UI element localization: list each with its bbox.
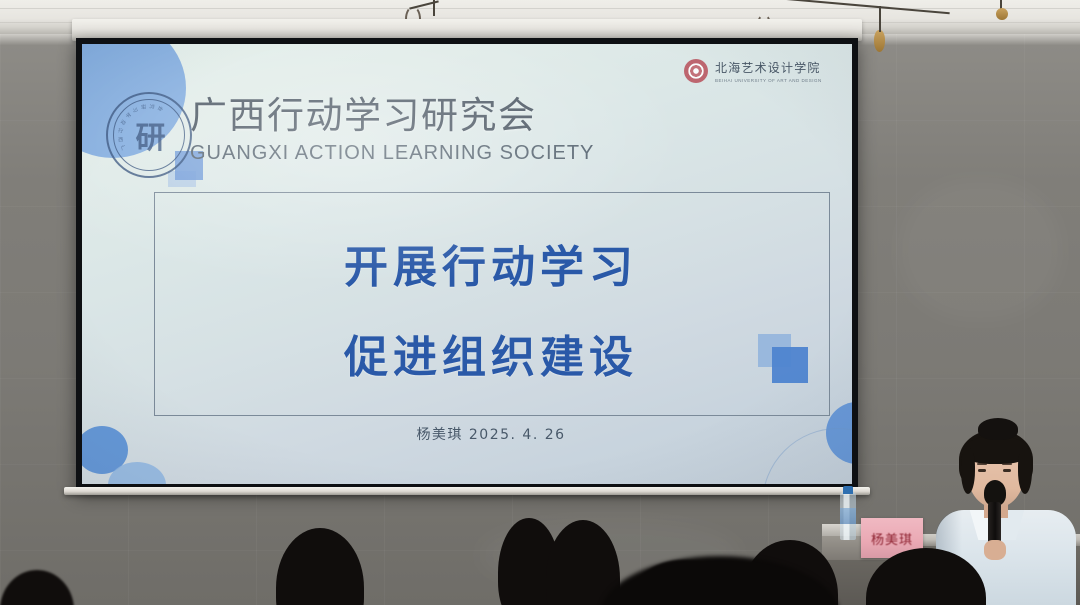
presenter-hair-side-right	[1018, 448, 1032, 494]
slide-title-line-2: 促进组织建设	[154, 321, 828, 385]
screenshot-root: 研 广西行动学习研究会 广西行动学习研究会 GUANGXI ACTION LEA…	[0, 0, 1080, 605]
ceiling-fixture-icon	[996, 8, 1008, 20]
org-name-english: GUANGXI ACTION LEARNING SOCIETY	[190, 142, 594, 165]
bulb-cord	[879, 6, 881, 32]
presenter-brow-right	[1002, 463, 1012, 465]
presenter-brow-left	[977, 463, 987, 465]
society-seal-icon: 研 广西行动学习研究会	[106, 92, 192, 178]
presenter-eye-left	[978, 469, 986, 472]
slide-byline: 杨美琪 2025. 4. 26	[154, 424, 828, 444]
university-name-chinese: 北海艺术设计学院	[715, 59, 822, 76]
water-bottle-label	[840, 508, 856, 524]
seal-ring-text: 广西行动学习研究会	[108, 94, 190, 176]
name-card-text: 杨美琪	[871, 529, 913, 548]
water-bottle-cap	[843, 486, 853, 494]
presenter-eye-right	[1003, 469, 1011, 472]
university-logo-text: 北海艺术设计学院 BEIHAI UNIVERSITY OF ART AND DE…	[715, 59, 822, 83]
presenter-hand	[984, 540, 1006, 560]
projector-screen-weight-bar	[64, 487, 870, 495]
projected-slide: 研 广西行动学习研究会 广西行动学习研究会 GUANGXI ACTION LEA…	[82, 44, 852, 484]
presenter-hair-side-left	[961, 448, 975, 494]
org-name-chinese: 广西行动学习研究会	[190, 97, 537, 134]
slide-title-line-1: 开展行动学习	[154, 231, 828, 295]
university-name-english: BEIHAI UNIVERSITY OF ART AND DESIGN	[715, 78, 822, 83]
university-spiral-logo-icon	[684, 59, 708, 83]
presenter-hair-bun	[978, 418, 1018, 440]
university-logo: 北海艺术设计学院 BEIHAI UNIVERSITY OF ART AND DE…	[684, 54, 836, 88]
hanging-bulb-icon	[874, 30, 885, 52]
wall-blotch	[900, 180, 1060, 320]
